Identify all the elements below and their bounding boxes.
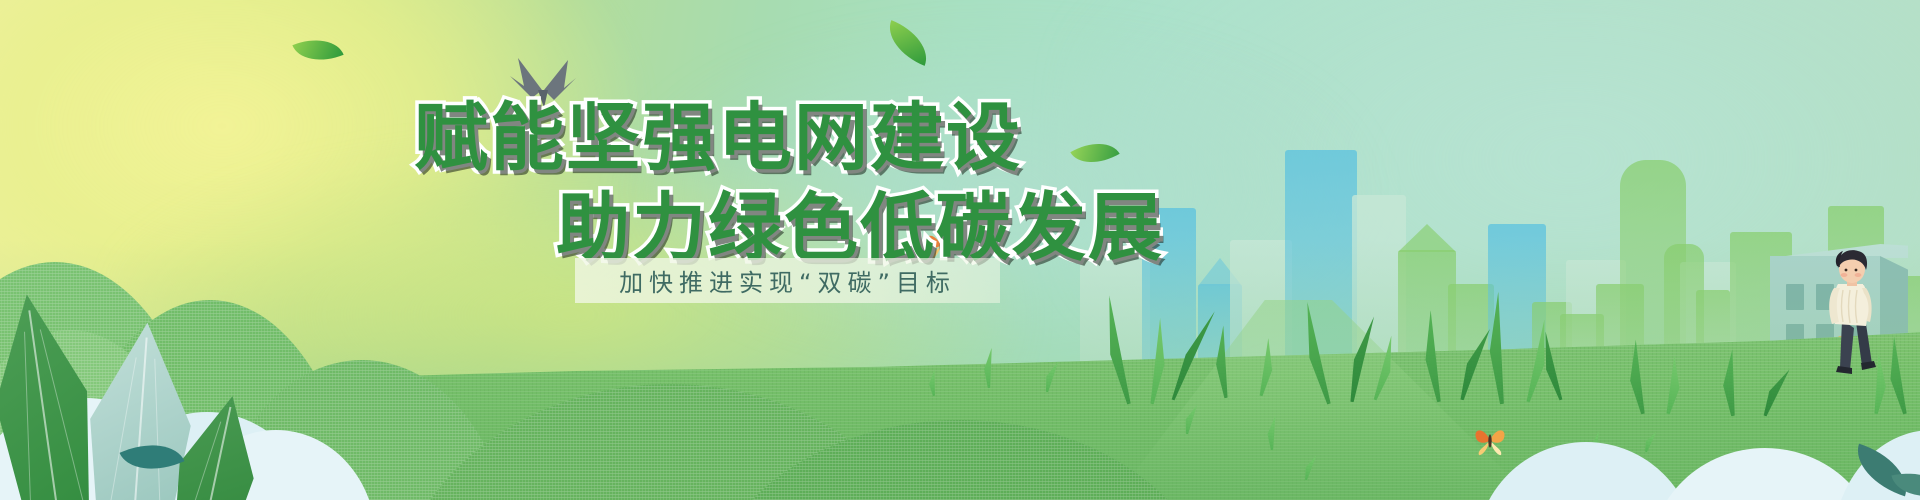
eco-grid-banner: 赋能坚强电网建设 助力绿色低碳发展 加快推进实现“双碳”目标 (0, 0, 1920, 500)
subtitle-text: 加快推进实现“双碳”目标 (619, 263, 956, 298)
butterfly-right-icon (1472, 424, 1508, 456)
person-walking (1816, 246, 1894, 376)
subtitle-bar: 加快推进实现“双碳”目标 (575, 258, 1000, 303)
